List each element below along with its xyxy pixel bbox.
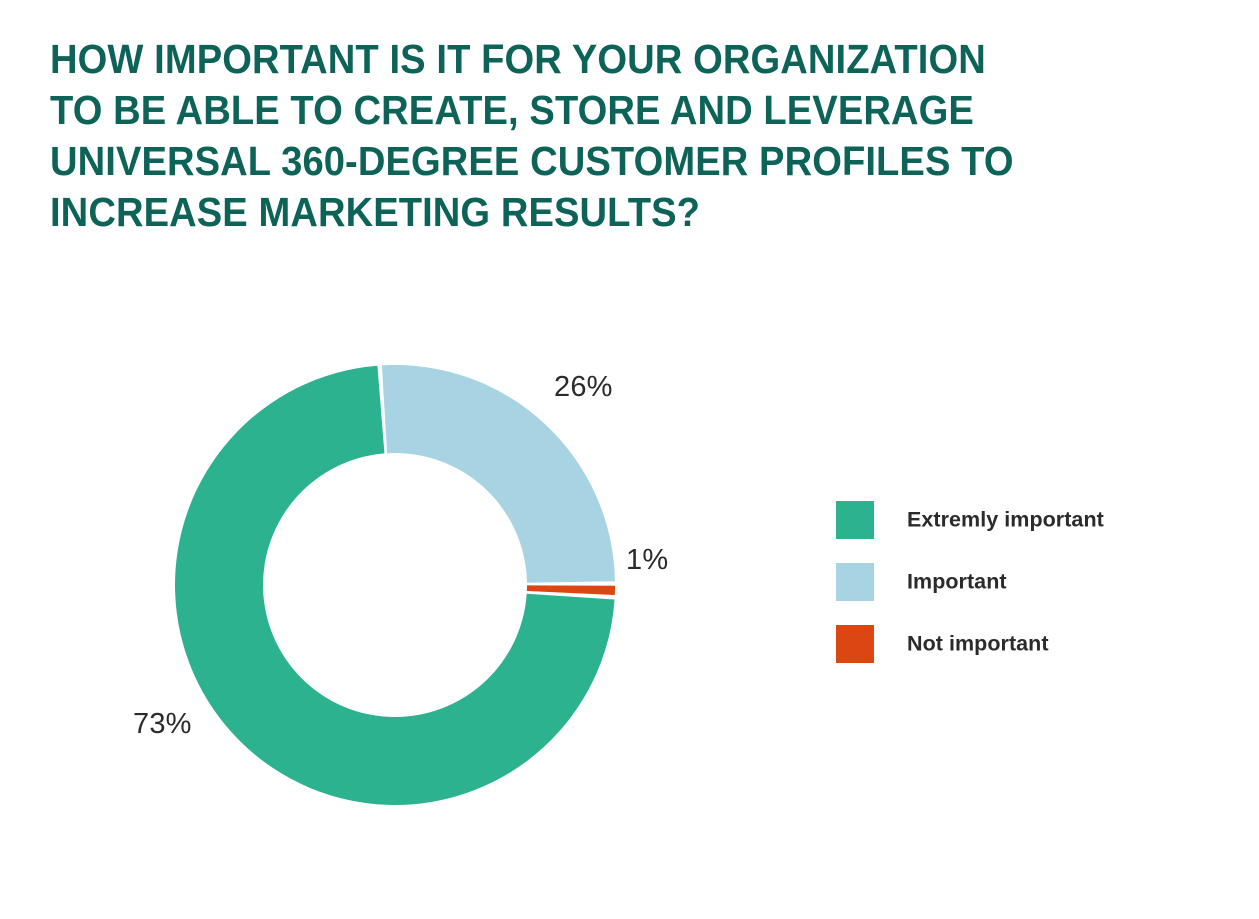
data-label-not-important: 1% [626,544,668,577]
legend-swatch-icon-not-important [836,625,874,663]
legend-label-extremly-important: Extremly important [907,508,1104,533]
legend-swatch-icon-important [836,563,874,601]
data-label-extremly-important: 73% [133,708,192,741]
donut-slice-not-important[interactable] [527,585,615,595]
data-label-important: 26% [554,371,613,404]
legend-label-not-important: Not important [907,632,1049,657]
legend-label-important: Important [907,570,1007,595]
legend-swatch-icon-extremly-important [836,501,874,539]
donut-slices [175,365,615,805]
donut-chart: 26% 1% 73% [0,0,1259,919]
donut-chart-svg [0,0,1259,919]
